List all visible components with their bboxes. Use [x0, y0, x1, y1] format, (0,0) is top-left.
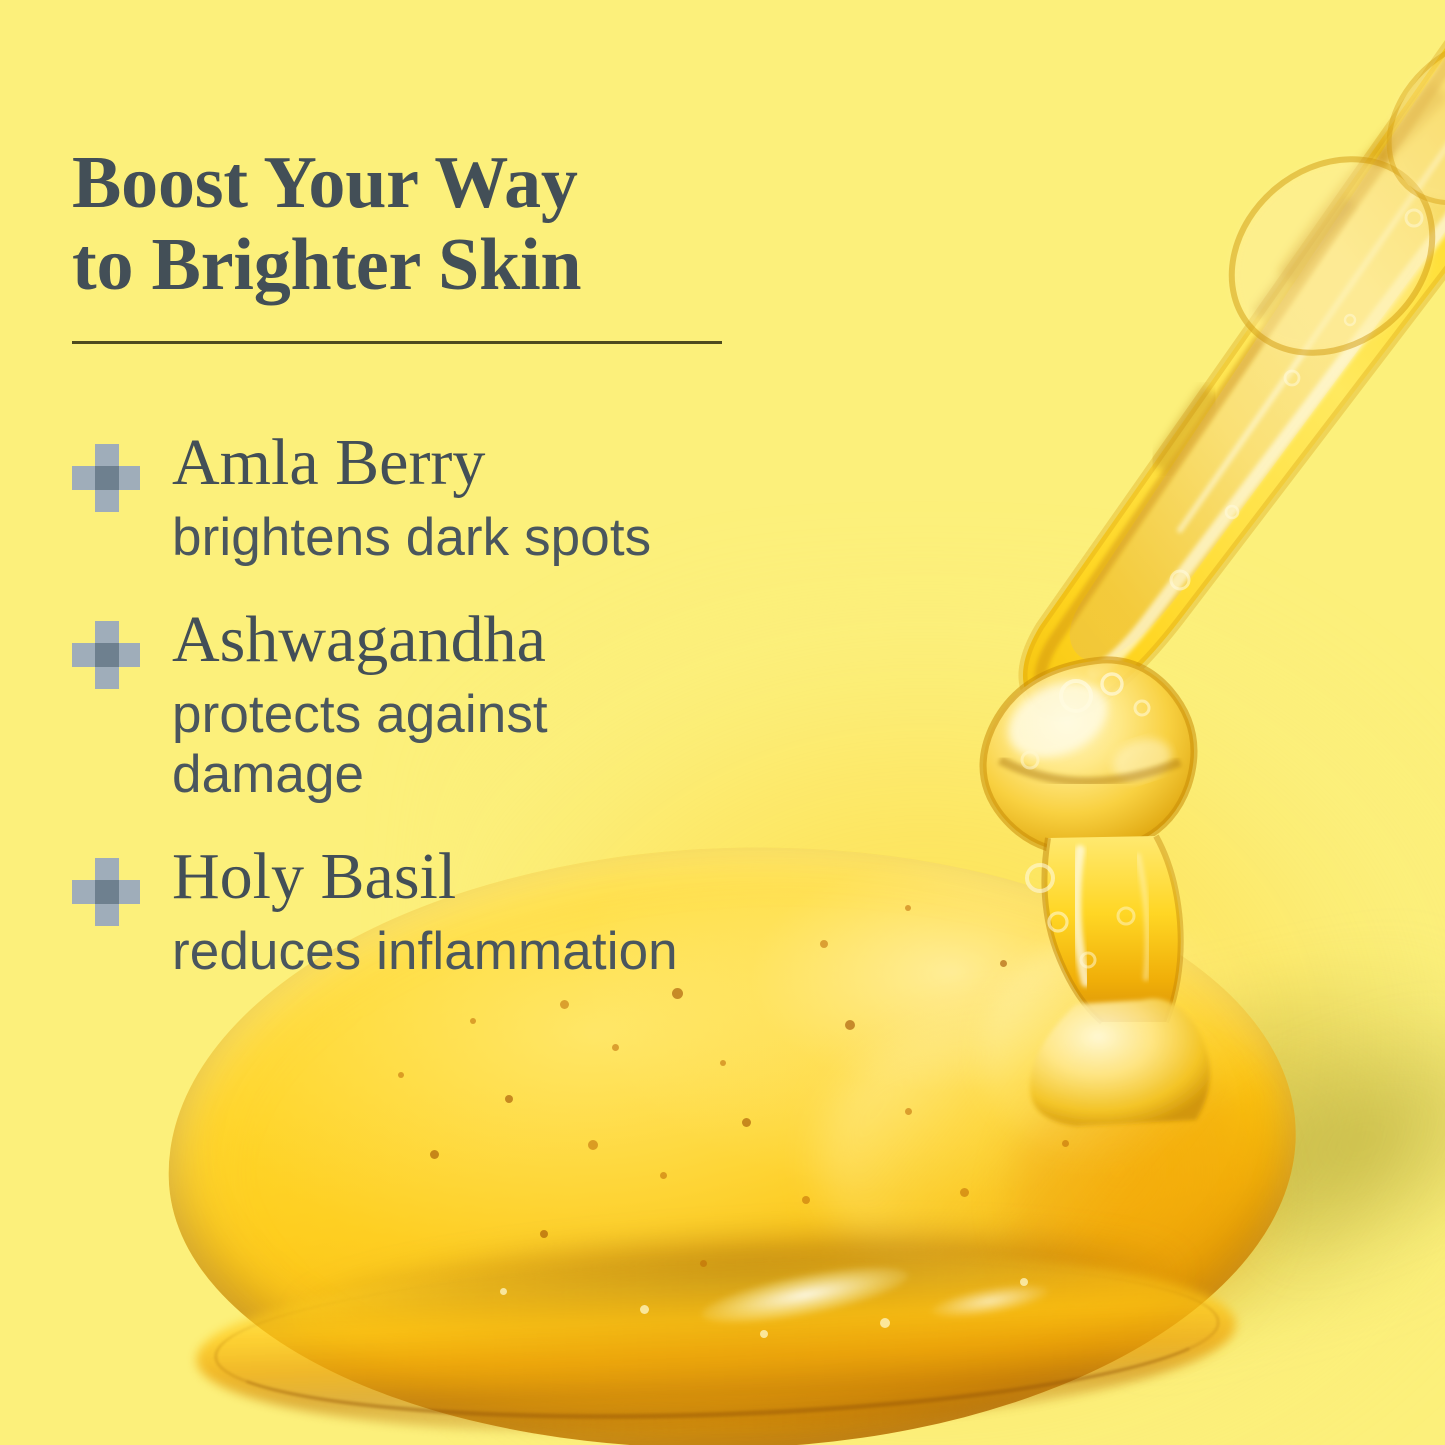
- page-title: Boost Your Way to Brighter Skin: [72, 142, 772, 308]
- ingredient-benefit: protects against damage: [172, 685, 732, 804]
- ingredient-name: Ashwagandha: [172, 607, 892, 673]
- benefits-list: Amla Berry brightens dark spots Ashwagan…: [72, 430, 892, 981]
- ingredient-benefit: reduces inflammation: [172, 922, 892, 981]
- card-content: Boost Your Way to Brighter Skin Amla Ber…: [0, 0, 1445, 1445]
- headline-line-2: to Brighter Skin: [72, 224, 772, 307]
- ingredient-name: Amla Berry: [172, 430, 892, 496]
- list-item: Amla Berry brightens dark spots: [72, 430, 892, 567]
- ingredient-name: Holy Basil: [172, 844, 892, 910]
- plus-icon: [72, 444, 140, 512]
- headline-line-1: Boost Your Way: [72, 142, 578, 224]
- plus-icon: [72, 621, 140, 689]
- plus-icon: [72, 858, 140, 926]
- list-item: Holy Basil reduces inflammation: [72, 844, 892, 981]
- ingredient-benefit: brightens dark spots: [172, 508, 892, 567]
- list-item: Ashwagandha protects against damage: [72, 607, 892, 804]
- divider: [72, 341, 722, 344]
- product-benefits-card: Boost Your Way to Brighter Skin Amla Ber…: [0, 0, 1445, 1445]
